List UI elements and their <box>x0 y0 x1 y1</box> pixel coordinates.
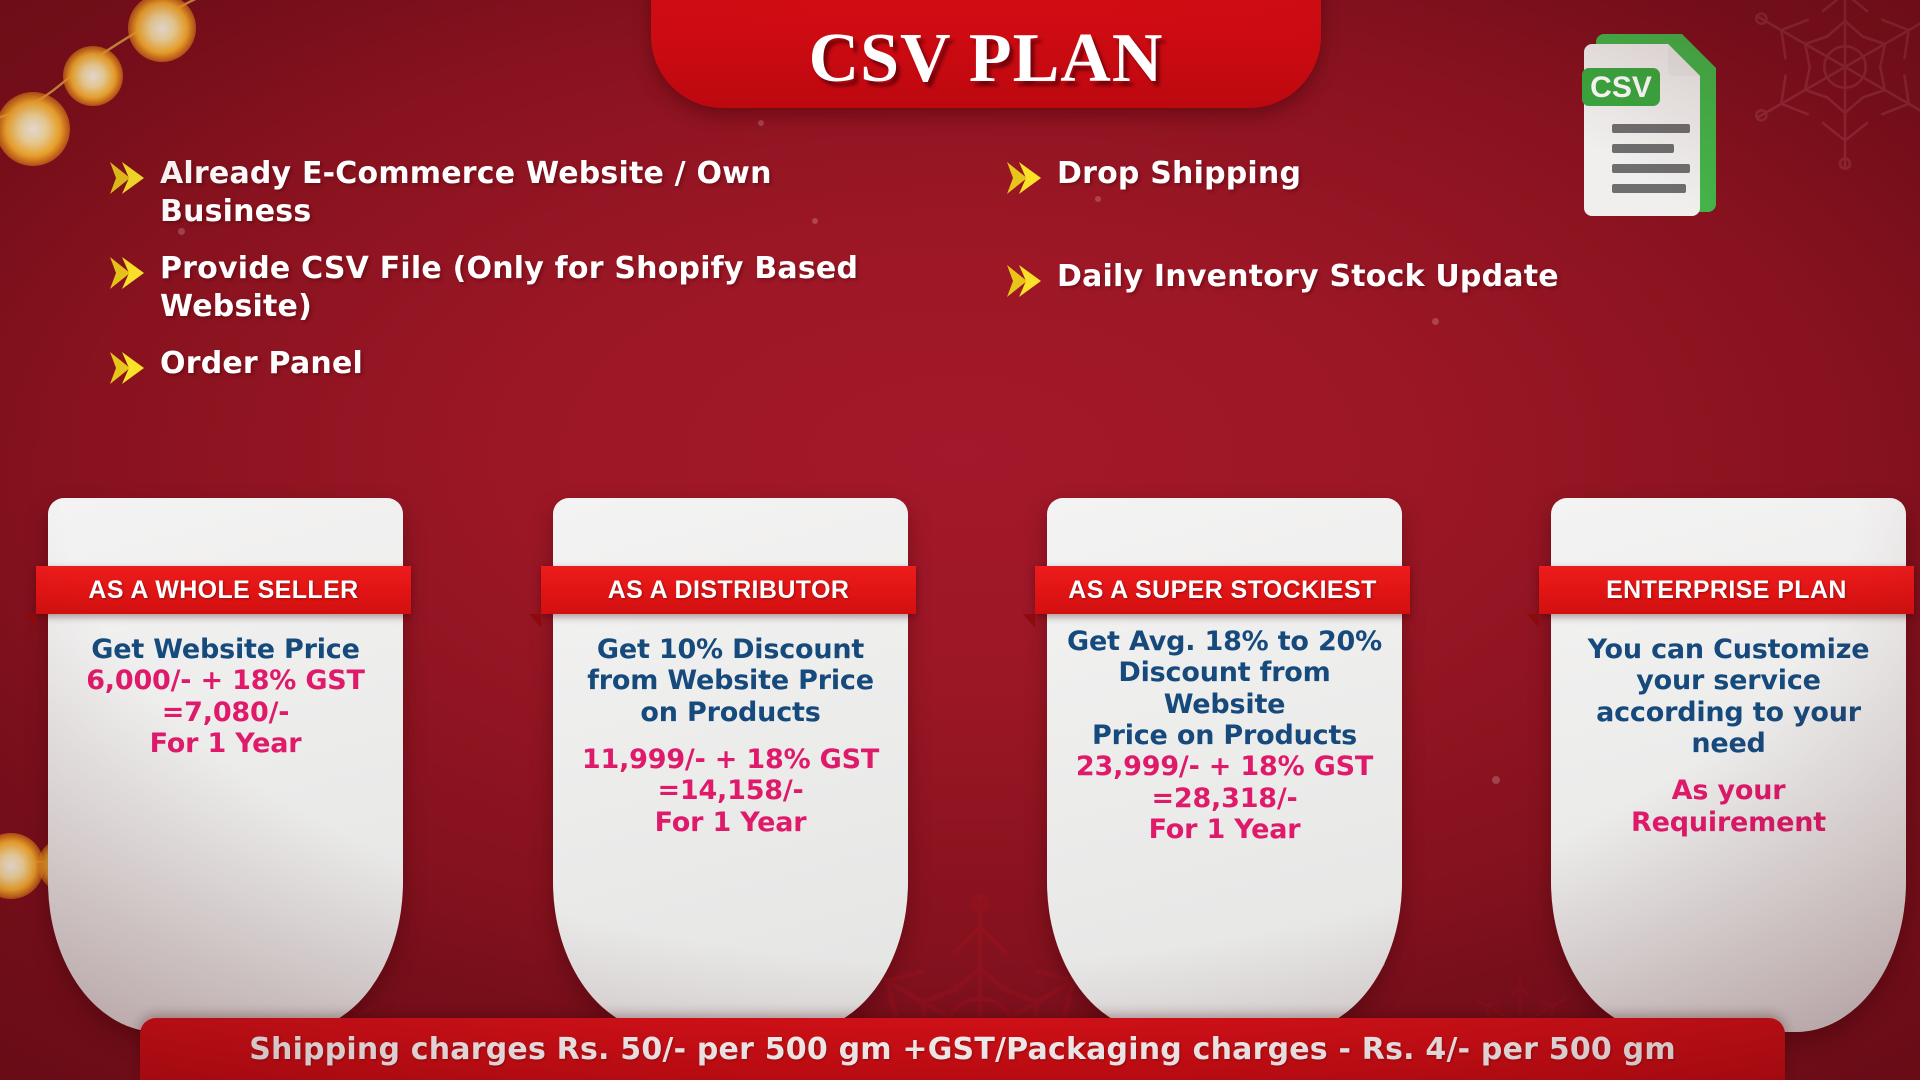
csv-badge-label: CSV <box>1590 71 1652 104</box>
double-chevron-bullet-icon <box>108 348 150 388</box>
page-title: CSV PLAN <box>809 24 1164 94</box>
string-light-bulb-icon <box>63 46 123 106</box>
plan-ribbon: AS A DISTRIBUTOR <box>541 566 916 614</box>
plan-ribbon-label: AS A SUPER STOCKIEST <box>1068 576 1377 605</box>
list-item-label: Drop Shipping <box>1057 155 1301 193</box>
spacer <box>563 728 898 744</box>
plan-price: 6,000/- + 18% GST =7,080/- For 1 Year <box>58 665 393 759</box>
plan-ribbon-label: AS A DISTRIBUTOR <box>608 576 850 605</box>
plan-card[interactable]: AS A DISTRIBUTOR Get 10% Discount from W… <box>553 498 908 1032</box>
plan-headline: Get Avg. 18% to 20% Discount from Websit… <box>1057 626 1392 751</box>
plan-headline: Get Website Price <box>58 634 393 665</box>
list-item-label: Daily Inventory Stock Update <box>1057 258 1559 296</box>
plan-price: As your Requirement <box>1561 775 1896 838</box>
list-item-label: Provide CSV File (Only for Shopify Based… <box>160 250 898 327</box>
list-item: Daily Inventory Stock Update <box>1005 258 1765 301</box>
plan-ribbon: ENTERPRISE PLAN <box>1539 566 1914 614</box>
double-chevron-bullet-icon <box>1005 158 1047 198</box>
plan-price: 23,999/- + 18% GST =28,318/- For 1 Year <box>1057 751 1392 845</box>
double-chevron-bullet-icon <box>1005 261 1047 301</box>
plan-card[interactable]: AS A SUPER STOCKIEST Get Avg. 18% to 20%… <box>1047 498 1402 1032</box>
list-item: Order Panel <box>108 345 898 388</box>
plan-card-body: Get Avg. 18% to 20% Discount from Websit… <box>1047 626 1402 845</box>
spacer <box>1561 759 1896 775</box>
plan-ribbon: AS A SUPER STOCKIEST <box>1035 566 1410 614</box>
plan-card-body: Get Website Price 6,000/- + 18% GST =7,0… <box>48 634 403 759</box>
footer-banner: Shipping charges Rs. 50/- per 500 gm +GS… <box>140 1018 1785 1080</box>
list-item: Already E-Commerce Website / Own Busines… <box>108 155 898 232</box>
plan-ribbon-label: ENTERPRISE PLAN <box>1606 576 1847 605</box>
list-item: Provide CSV File (Only for Shopify Based… <box>108 250 898 327</box>
decorative-dot <box>758 120 764 126</box>
plan-ribbon-label: AS A WHOLE SELLER <box>88 576 358 605</box>
title-banner: CSV PLAN <box>651 0 1321 108</box>
feature-list-left: Already E-Commerce Website / Own Busines… <box>108 155 898 406</box>
plan-headline: You can Customize your service according… <box>1561 634 1896 759</box>
plan-card[interactable]: AS A WHOLE SELLER Get Website Price 6,00… <box>48 498 403 1032</box>
footer-text: Shipping charges Rs. 50/- per 500 gm +GS… <box>249 1032 1676 1067</box>
plan-card-body: You can Customize your service according… <box>1551 634 1906 838</box>
list-item-label: Already E-Commerce Website / Own Busines… <box>160 155 898 232</box>
double-chevron-bullet-icon <box>108 158 150 198</box>
plan-ribbon: AS A WHOLE SELLER <box>36 566 411 614</box>
list-item: Drop Shipping <box>1005 155 1765 198</box>
plan-price: 11,999/- + 18% GST =14,158/- For 1 Year <box>563 744 898 838</box>
feature-list-right: Drop Shipping Daily Inventory Stock Upda… <box>1005 155 1765 361</box>
list-item-label: Order Panel <box>160 345 363 383</box>
plan-headline: Get 10% Discount from Website Price on P… <box>563 634 898 728</box>
plan-card-body: Get 10% Discount from Website Price on P… <box>553 634 908 838</box>
double-chevron-bullet-icon <box>108 253 150 293</box>
plan-card[interactable]: ENTERPRISE PLAN You can Customize your s… <box>1551 498 1906 1032</box>
decorative-dot <box>1492 776 1500 784</box>
